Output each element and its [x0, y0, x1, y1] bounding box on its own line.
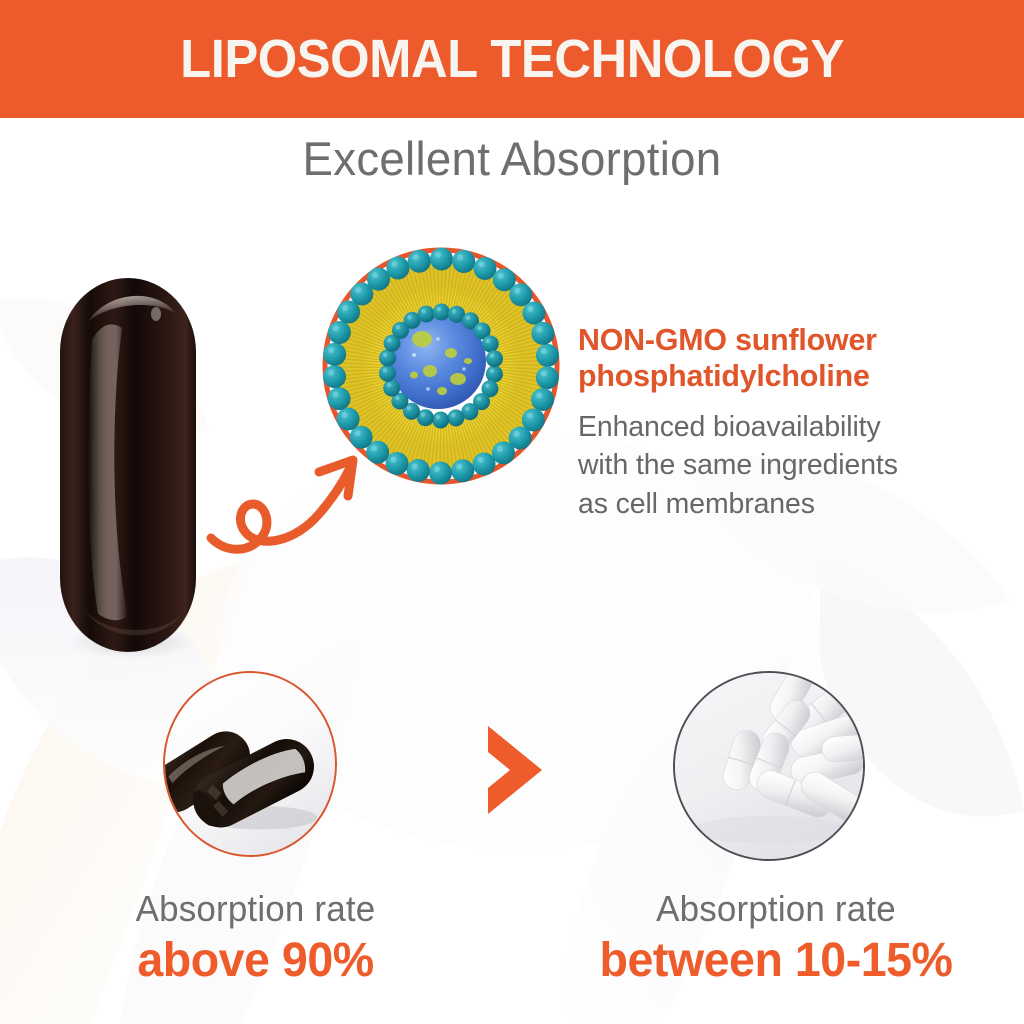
- info-body-line-2: with the same ingredients: [578, 446, 982, 485]
- info-block: NON-GMO sunflower phosphatidylcholine En…: [578, 322, 990, 523]
- white-capsules-photo: [675, 673, 863, 859]
- info-heading-line-1: NON-GMO sunflower: [578, 322, 982, 358]
- page-title: LIPOSOMAL TECHNOLOGY: [180, 32, 844, 86]
- info-body-line-3: as cell membranes: [578, 485, 982, 524]
- comparison-right-image: [673, 671, 865, 861]
- curved-arrow-icon: [203, 438, 383, 568]
- absorption-rate-right: Absorption rate between 10-15%: [556, 888, 996, 988]
- subtitle: Excellent Absorption: [15, 131, 1008, 186]
- absorption-rate-left-value: above 90%: [64, 933, 447, 988]
- black-softgel-capsules-photo: [165, 673, 335, 855]
- info-heading-line-2: phosphatidylcholine: [578, 358, 982, 394]
- header-band: LIPOSOMAL TECHNOLOGY: [0, 0, 1024, 118]
- softgel-capsule-illustration: [48, 270, 208, 660]
- absorption-rate-left: Absorption rate above 90%: [58, 888, 453, 988]
- absorption-rate-right-caption: Absorption rate: [563, 888, 990, 930]
- absorption-rate-left-caption: Absorption rate: [64, 888, 447, 930]
- absorption-rate-right-value: between 10-15%: [563, 933, 990, 988]
- comparison-left-image: [163, 671, 337, 857]
- info-heading: NON-GMO sunflower phosphatidylcholine: [578, 322, 982, 395]
- info-body-line-1: Enhanced bioavailability: [578, 408, 982, 447]
- greater-than-chevron-icon: [470, 718, 566, 822]
- info-body: Enhanced bioavailability with the same i…: [578, 408, 982, 524]
